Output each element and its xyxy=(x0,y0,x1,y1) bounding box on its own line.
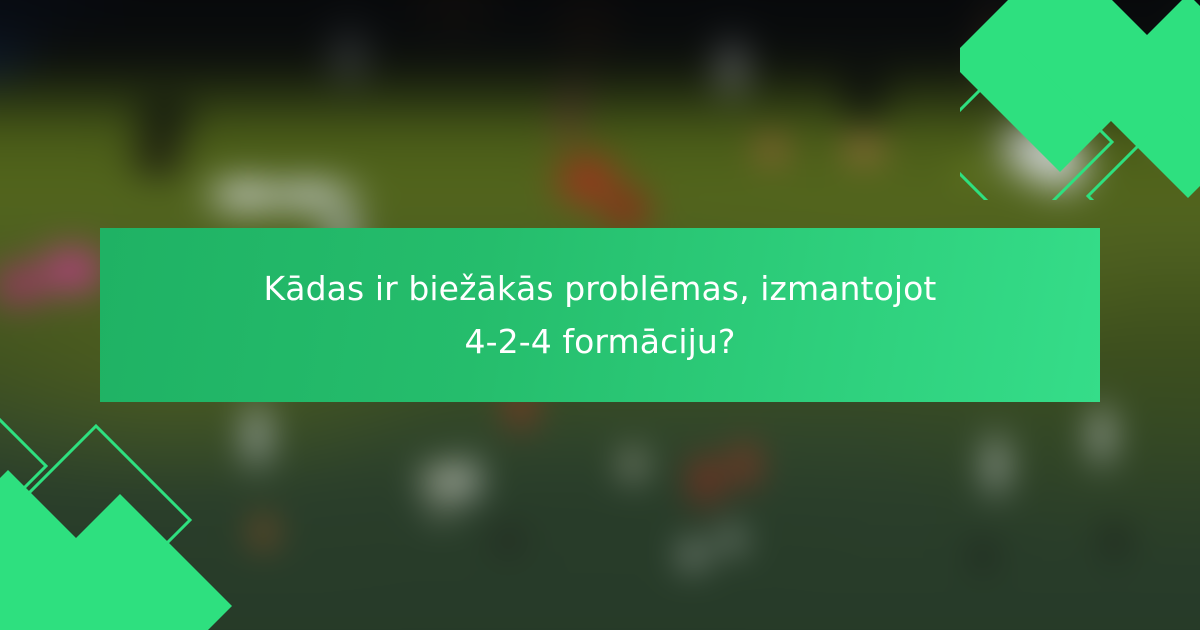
page-title: Kādas ir biežākās problēmas, izmantojot … xyxy=(100,262,1100,369)
share-card: Kādas ir biežākās problēmas, izmantojot … xyxy=(0,0,1200,630)
title-banner: Kādas ir biežākās problēmas, izmantojot … xyxy=(100,228,1100,402)
